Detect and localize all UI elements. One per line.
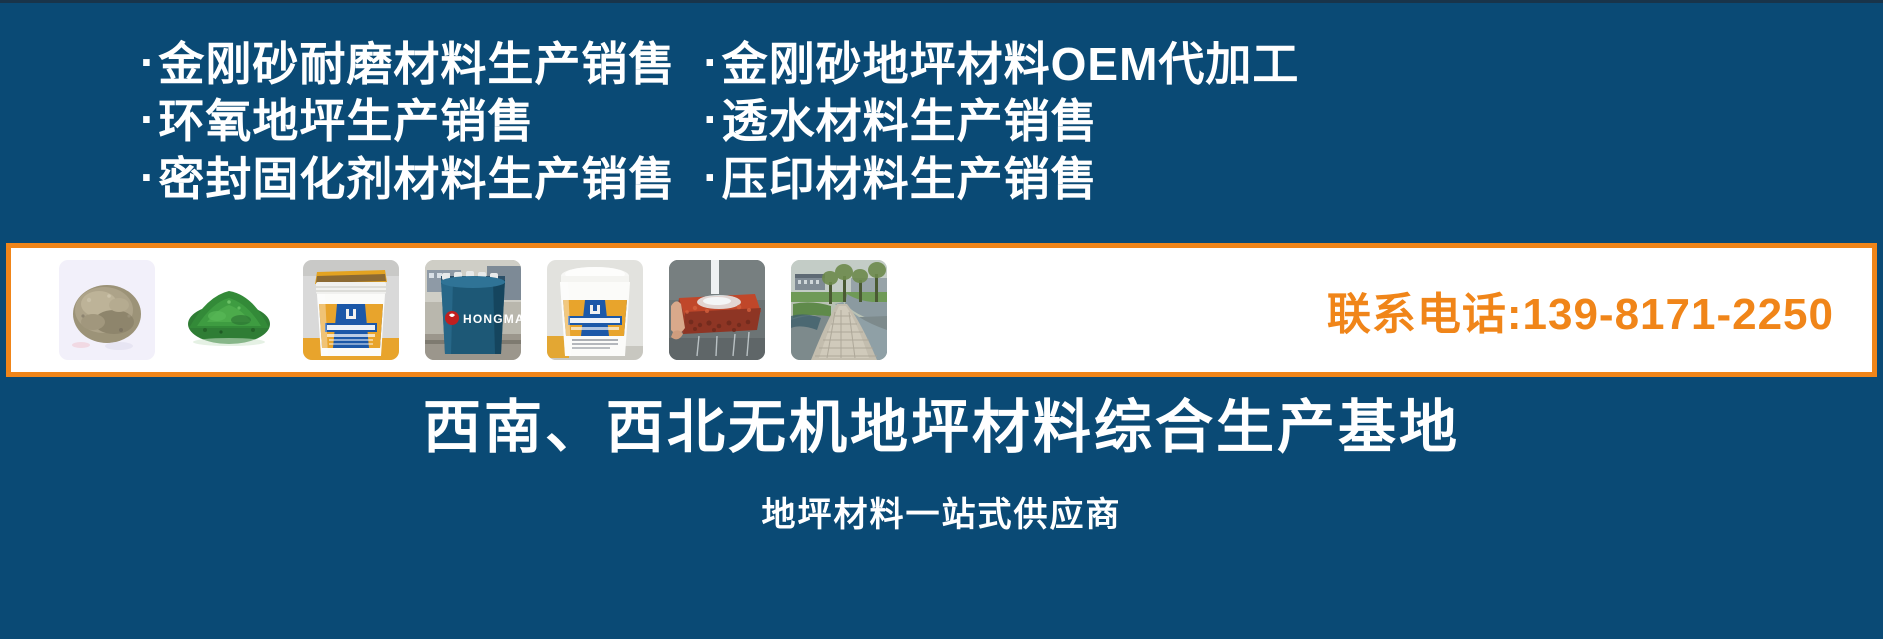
bullet-item-2-label: 环氧地坪生产销售 bbox=[158, 93, 534, 150]
footer-tagline: 地坪材料一站式供应商 bbox=[762, 487, 1122, 536]
bullet-item-6: · 压印材料生产销售 bbox=[703, 151, 1299, 208]
bullet-item-6-label: 压印材料生产销售 bbox=[722, 151, 1098, 208]
bullet-dot-icon: · bbox=[140, 39, 156, 85]
bullet-column-right: · 金刚砂地坪材料OEM代加工 · 透水材料生产销售 · 压印材料生产销售 bbox=[703, 36, 1299, 207]
bullet-dot-icon: · bbox=[140, 96, 156, 142]
bullet-item-2: · 环氧地坪生产销售 bbox=[140, 93, 675, 150]
bullet-dot-icon: · bbox=[703, 154, 719, 200]
concrete-sealer-bucket-photo bbox=[303, 260, 399, 360]
grey-wear-resistant-powder-photo bbox=[59, 260, 155, 360]
bullet-dot-icon: · bbox=[703, 39, 719, 85]
epoxy-floor-coating-bucket-photo bbox=[547, 260, 643, 360]
bullet-column-left: · 金刚砂耐磨材料生产销售 · 环氧地坪生产销售 · 密封固化剂材料生产销售 bbox=[140, 36, 675, 207]
bullet-item-1-label: 金刚砂耐磨材料生产销售 bbox=[158, 36, 675, 93]
product-thumbnail-strip: HONGMA bbox=[59, 260, 887, 360]
bullet-item-3-label: 密封固化剂材料生产销售 bbox=[158, 151, 675, 208]
product-showcase-panel: HONGMA bbox=[6, 243, 1877, 377]
contact-phone-number: 139-8171-2250 bbox=[1523, 290, 1834, 339]
page-title: 西南、西北无机地坪材料综合生产基地 bbox=[423, 393, 1460, 463]
stamped-concrete-path-photo bbox=[791, 260, 887, 360]
promotional-banner: · 金刚砂耐磨材料生产销售 · 环氧地坪生产销售 · 密封固化剂材料生产销售 ·… bbox=[0, 0, 1883, 639]
bullet-item-5-label: 透水材料生产销售 bbox=[722, 93, 1098, 150]
bullet-item-4-label: 金刚砂地坪材料OEM代加工 bbox=[722, 36, 1300, 93]
contact-phone[interactable]: 联系电话:139-8171-2250 bbox=[1327, 278, 1834, 342]
green-powder-photo bbox=[181, 260, 277, 360]
footer-slogan-block: 西南、西北无机地坪材料综合生产基地 地坪材料一站式供应商 bbox=[0, 379, 1883, 639]
permeable-concrete-slab-photo bbox=[669, 260, 765, 360]
bullet-dot-icon: · bbox=[140, 154, 156, 200]
bullet-item-5: · 透水材料生产销售 bbox=[703, 93, 1299, 150]
service-bullet-lists: · 金刚砂耐磨材料生产销售 · 环氧地坪生产销售 · 密封固化剂材料生产销售 ·… bbox=[0, 3, 1883, 241]
bullet-item-1: · 金刚砂耐磨材料生产销售 bbox=[140, 36, 675, 93]
bullet-item-4: · 金刚砂地坪材料OEM代加工 bbox=[703, 36, 1299, 93]
bullet-dot-icon: · bbox=[703, 96, 719, 142]
svg-text:HONGMA: HONGMA bbox=[463, 312, 521, 326]
contact-phone-label: 联系电话: bbox=[1327, 290, 1523, 339]
bullet-item-3: · 密封固化剂材料生产销售 bbox=[140, 151, 675, 208]
hongma-blue-drum-photo: HONGMA bbox=[425, 260, 521, 360]
